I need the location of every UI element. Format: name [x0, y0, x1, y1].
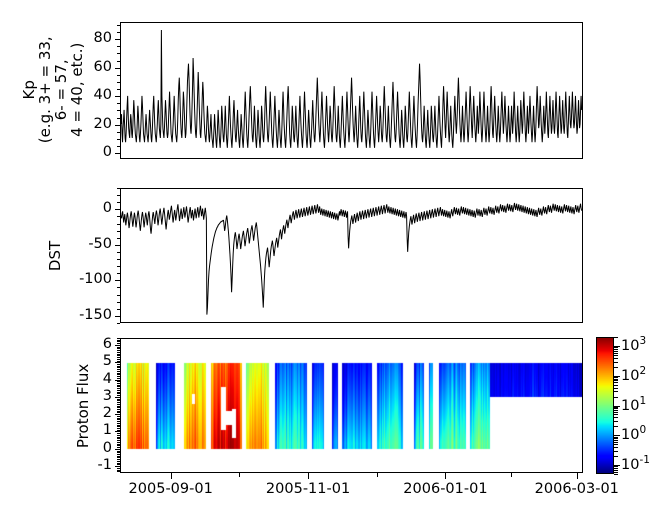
x-tick-mark	[445, 473, 446, 479]
minor-tick-mark	[117, 354, 120, 355]
minor-tick-mark	[117, 390, 120, 391]
minor-tick-mark	[117, 444, 120, 445]
series-path	[121, 203, 582, 315]
minor-tick-mark	[117, 399, 120, 400]
minor-tick-mark	[117, 428, 120, 429]
colorbar-minor-tick-mark	[614, 380, 618, 381]
colorbar-label-2: 101	[621, 395, 646, 414]
x-minor-tick-mark	[511, 473, 512, 477]
minor-tick-mark	[117, 224, 120, 225]
x-tick-label-3: 2006-03-01	[527, 481, 627, 497]
kp-yticks-2: 40	[58, 87, 112, 103]
minor-tick-mark	[117, 383, 120, 384]
x-minor-tick-mark	[377, 473, 378, 477]
minor-tick-mark	[117, 364, 120, 365]
minor-tick-mark	[117, 433, 120, 434]
minor-tick-mark	[117, 380, 120, 381]
colorbar-minor-tick-mark	[614, 444, 618, 445]
colorbar-label-3: 102	[621, 365, 646, 384]
minor-tick-mark	[117, 266, 120, 267]
minor-tick-mark	[117, 252, 120, 253]
minor-tick-mark	[117, 348, 120, 349]
minor-tick-mark	[117, 461, 120, 462]
colorbar-minor-tick-mark	[614, 472, 618, 473]
colorbar-minor-tick-mark	[614, 440, 618, 441]
colorbar-minor-tick-mark	[614, 362, 618, 363]
minor-tick-mark	[117, 68, 120, 69]
minor-tick-mark	[117, 385, 120, 386]
minor-tick-mark	[117, 338, 120, 339]
minor-tick-mark	[117, 445, 120, 446]
kp-yticks-4: 80	[58, 30, 112, 46]
colorbar-minor-tick-mark	[614, 382, 618, 383]
minor-tick-mark	[117, 352, 120, 353]
dst-yticks-2: -100	[58, 271, 112, 287]
minor-tick-mark	[117, 139, 120, 140]
minor-tick-mark	[117, 442, 120, 443]
minor-tick-mark	[117, 431, 120, 432]
minor-tick-mark	[117, 470, 120, 471]
minor-tick-mark	[117, 309, 120, 310]
minor-tick-mark	[117, 463, 120, 464]
minor-tick-mark	[117, 416, 120, 417]
proton-flux-spectrogram	[121, 339, 582, 472]
figure-root: Kp (e.g. 3+ = 33, 6- = 57, 4 = 40, etc.)…	[0, 0, 665, 523]
minor-tick-mark	[117, 75, 120, 76]
minor-tick-mark	[117, 153, 120, 154]
colorbar-minor-tick-mark	[614, 426, 618, 427]
colorbar-minor-tick-mark	[614, 442, 618, 443]
colorbar-label-4: 103	[621, 335, 646, 354]
minor-tick-mark	[117, 406, 120, 407]
colorbar-minor-tick-mark	[614, 355, 618, 356]
minor-tick-mark	[117, 392, 120, 393]
minor-tick-mark	[117, 350, 120, 351]
minor-tick-mark	[117, 388, 120, 389]
minor-tick-mark	[117, 125, 120, 126]
colorbar-label-0: 10-1	[621, 454, 650, 473]
minor-tick-mark	[117, 400, 120, 401]
minor-tick-mark	[117, 468, 120, 469]
minor-tick-mark	[117, 411, 120, 412]
minor-tick-mark	[117, 419, 120, 420]
minor-tick-mark	[117, 378, 120, 379]
colorbar-minor-tick-mark	[614, 349, 618, 350]
panel-proton-flux	[120, 338, 583, 473]
colorbar-gradient	[597, 338, 613, 473]
panel-dst	[120, 188, 583, 323]
minor-tick-mark	[117, 371, 120, 372]
colorbar-tick-mark	[614, 435, 620, 436]
minor-tick-mark	[117, 414, 120, 415]
colorbar-minor-tick-mark	[614, 456, 618, 457]
minor-tick-mark	[117, 381, 120, 382]
minor-tick-mark	[117, 355, 120, 356]
minor-tick-mark	[117, 347, 120, 348]
minor-tick-mark	[117, 425, 120, 426]
minor-tick-mark	[117, 440, 120, 441]
colorbar-minor-tick-mark	[614, 412, 618, 413]
minor-tick-mark	[117, 369, 120, 370]
minor-tick-mark	[117, 32, 120, 33]
minor-tick-mark	[117, 409, 120, 410]
minor-tick-mark	[117, 430, 120, 431]
minor-tick-mark	[117, 438, 120, 439]
colorbar-label-1: 100	[621, 424, 646, 443]
colorbar-minor-tick-mark	[614, 353, 618, 354]
minor-tick-mark	[117, 366, 120, 367]
flux-yticks-0: -1	[58, 457, 112, 473]
minor-tick-mark	[117, 61, 120, 62]
minor-tick-mark	[117, 25, 120, 26]
minor-tick-mark	[117, 367, 120, 368]
panel-kp	[120, 22, 583, 159]
minor-tick-mark	[117, 466, 120, 467]
kp-yticks-3: 60	[58, 59, 112, 75]
minor-tick-mark	[117, 231, 120, 232]
minor-tick-mark	[117, 118, 120, 119]
minor-tick-mark	[117, 132, 120, 133]
minor-tick-mark	[117, 89, 120, 90]
colorbar-minor-tick-mark	[614, 367, 618, 368]
flux-yticks-3: 2	[58, 405, 112, 421]
minor-tick-mark	[117, 464, 120, 465]
x-tick-mark	[171, 473, 172, 479]
minor-tick-mark	[117, 195, 120, 196]
minor-tick-mark	[117, 39, 120, 40]
minor-tick-mark	[117, 456, 120, 457]
colorbar-minor-tick-mark	[614, 451, 618, 452]
x-tick-label-1: 2005-11-01	[258, 481, 358, 497]
minor-tick-mark	[117, 374, 120, 375]
colorbar-minor-tick-mark	[614, 388, 618, 389]
minor-tick-mark	[117, 457, 120, 458]
colorbar-minor-tick-mark	[614, 468, 618, 469]
minor-tick-mark	[117, 103, 120, 104]
minor-tick-mark	[117, 426, 120, 427]
colorbar-minor-tick-mark	[614, 410, 618, 411]
minor-tick-mark	[117, 323, 120, 324]
colorbar-minor-tick-mark	[614, 337, 618, 338]
minor-tick-mark	[117, 397, 120, 398]
minor-tick-mark	[117, 459, 120, 460]
minor-tick-mark	[117, 404, 120, 405]
colorbar-minor-tick-mark	[614, 474, 618, 475]
minor-tick-mark	[117, 146, 120, 147]
minor-tick-mark	[117, 402, 120, 403]
colorbar-minor-tick-mark	[614, 421, 618, 422]
minor-tick-mark	[117, 302, 120, 303]
colorbar-minor-tick-mark	[614, 438, 618, 439]
colorbar-minor-tick-mark	[614, 414, 618, 415]
minor-tick-mark	[117, 202, 120, 203]
minor-tick-mark	[117, 423, 120, 424]
x-minor-tick-mark	[239, 473, 240, 477]
colorbar-minor-tick-mark	[614, 358, 618, 359]
minor-tick-mark	[117, 376, 120, 377]
dst-plot-line	[121, 189, 582, 322]
x-tick-mark	[308, 473, 309, 479]
minor-tick-mark	[117, 53, 120, 54]
dst-yticks-0: 0	[58, 200, 112, 216]
colorbar	[596, 337, 614, 474]
minor-tick-mark	[117, 435, 120, 436]
minor-tick-mark	[117, 393, 120, 394]
colorbar-minor-tick-mark	[614, 391, 618, 392]
minor-tick-mark	[117, 447, 120, 448]
flux-yticks-4: 3	[58, 388, 112, 404]
colorbar-minor-tick-mark	[614, 417, 618, 418]
minor-tick-mark	[117, 421, 120, 422]
colorbar-minor-tick-mark	[614, 351, 618, 352]
minor-tick-mark	[117, 46, 120, 47]
kp-yticks-0: 0	[58, 144, 112, 160]
minor-tick-mark	[117, 287, 120, 288]
flux-yticks-1: 0	[58, 440, 112, 456]
colorbar-minor-tick-mark	[614, 447, 618, 448]
minor-tick-mark	[117, 341, 120, 342]
colorbar-minor-tick-mark	[614, 466, 618, 467]
dst-yticks-1: -50	[58, 236, 112, 252]
minor-tick-mark	[117, 343, 120, 344]
flux-yticks-5: 4	[58, 371, 112, 387]
colorbar-minor-tick-mark	[614, 437, 618, 438]
minor-tick-mark	[117, 188, 120, 189]
kp-yticks-1: 20	[58, 116, 112, 132]
x-tick-label-2: 2006-01-01	[395, 481, 495, 497]
minor-tick-mark	[117, 452, 120, 453]
minor-tick-mark	[117, 362, 120, 363]
minor-tick-mark	[117, 437, 120, 438]
minor-tick-mark	[117, 216, 120, 217]
minor-tick-mark	[117, 407, 120, 408]
minor-tick-mark	[117, 395, 120, 396]
flux-yticks-2: 1	[58, 422, 112, 438]
minor-tick-mark	[117, 110, 120, 111]
minor-tick-mark	[117, 245, 120, 246]
colorbar-minor-tick-mark	[614, 377, 618, 378]
flux-yticks-7: 6	[58, 336, 112, 352]
minor-tick-mark	[117, 96, 120, 97]
minor-tick-mark	[117, 238, 120, 239]
colorbar-minor-tick-mark	[614, 385, 618, 386]
colorbar-minor-tick-mark	[614, 379, 618, 380]
dst-yticks-3: -150	[58, 307, 112, 323]
minor-tick-mark	[117, 373, 120, 374]
colorbar-minor-tick-mark	[614, 347, 618, 348]
minor-tick-mark	[117, 357, 120, 358]
colorbar-minor-tick-mark	[614, 470, 618, 471]
minor-tick-mark	[117, 345, 120, 346]
x-tick-mark	[577, 473, 578, 479]
minor-tick-mark	[117, 418, 120, 419]
minor-tick-mark	[117, 340, 120, 341]
colorbar-minor-tick-mark	[614, 397, 618, 398]
minor-tick-mark	[117, 316, 120, 317]
minor-tick-mark	[117, 280, 120, 281]
flux-yticks-6: 5	[58, 353, 112, 369]
minor-tick-mark	[117, 451, 120, 452]
minor-tick-mark	[117, 412, 120, 413]
colorbar-minor-tick-mark	[614, 407, 618, 408]
minor-tick-mark	[117, 386, 120, 387]
minor-tick-mark	[117, 82, 120, 83]
kp-plot-line	[121, 23, 582, 158]
minor-tick-mark	[117, 359, 120, 360]
minor-tick-mark	[117, 361, 120, 362]
minor-tick-mark	[117, 471, 120, 472]
series-path	[121, 30, 582, 148]
minor-tick-mark	[117, 449, 120, 450]
minor-tick-mark	[117, 259, 120, 260]
minor-tick-mark	[117, 209, 120, 210]
minor-tick-mark	[117, 454, 120, 455]
minor-tick-mark	[117, 273, 120, 274]
minor-tick-mark	[117, 295, 120, 296]
colorbar-minor-tick-mark	[614, 408, 618, 409]
x-tick-label-0: 2005-09-01	[121, 481, 221, 497]
